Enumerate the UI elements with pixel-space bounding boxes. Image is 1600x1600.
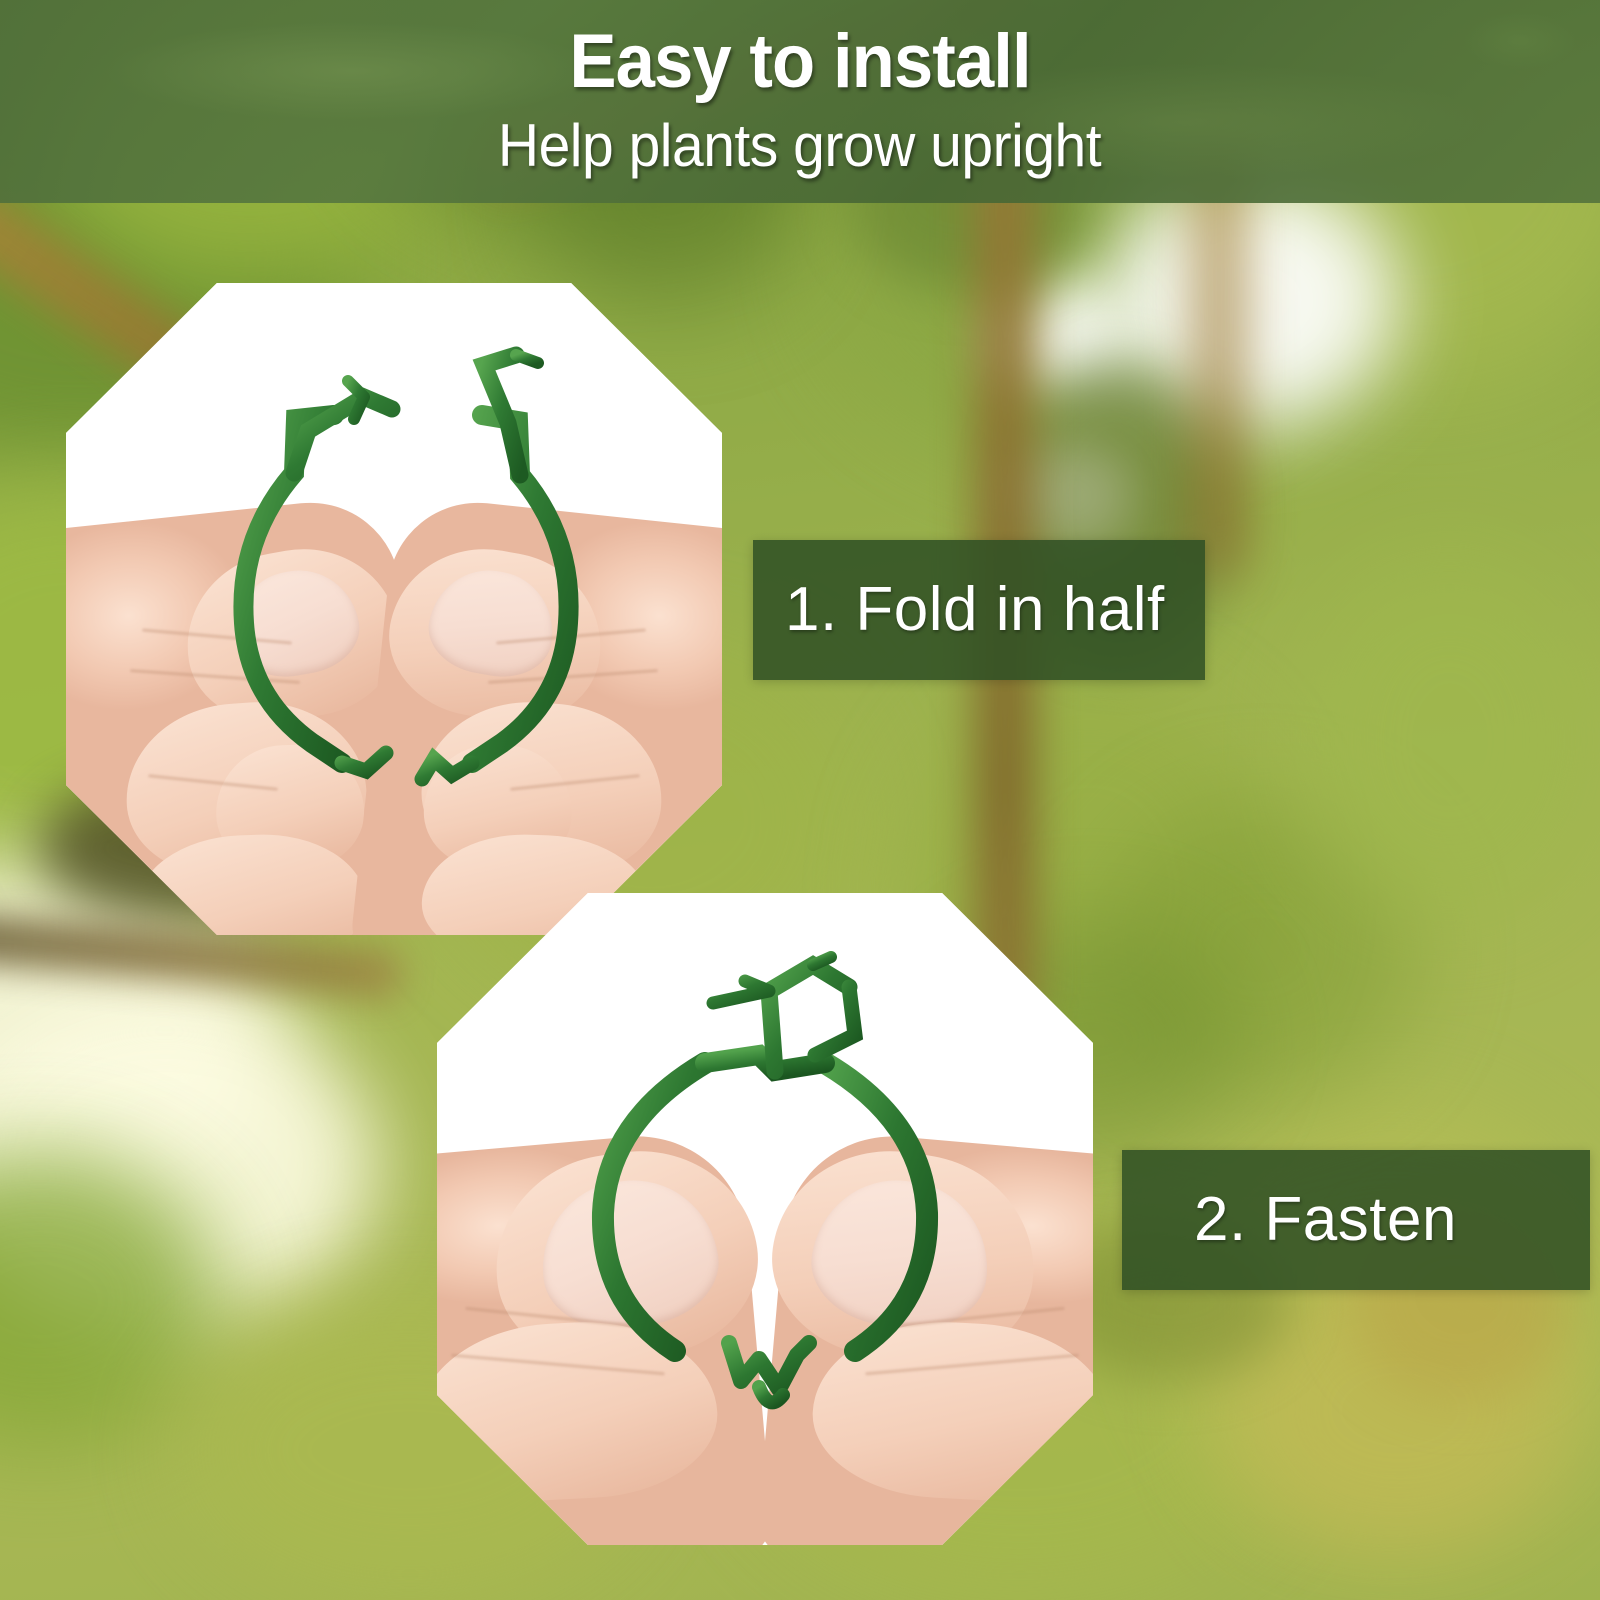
step-1-label: 1. Fold in half (785, 579, 1165, 641)
step-2-photo (437, 893, 1093, 1545)
step-2-badge: 2. Fasten (1122, 1150, 1590, 1290)
step-1-badge: 1. Fold in half (753, 540, 1205, 680)
header-banner: Easy to install Help plants grow upright (0, 0, 1600, 203)
step-1-photo (66, 283, 722, 935)
plant-clip-closed-icon (563, 951, 967, 1421)
step-2-label: 2. Fasten (1194, 1189, 1457, 1251)
page-subtitle: Help plants grow upright (498, 116, 1101, 176)
page-title: Easy to install (569, 24, 1030, 100)
step-2-image-content (437, 893, 1093, 1545)
step-1-image-content (66, 283, 722, 935)
plant-clip-open-icon (216, 323, 596, 803)
